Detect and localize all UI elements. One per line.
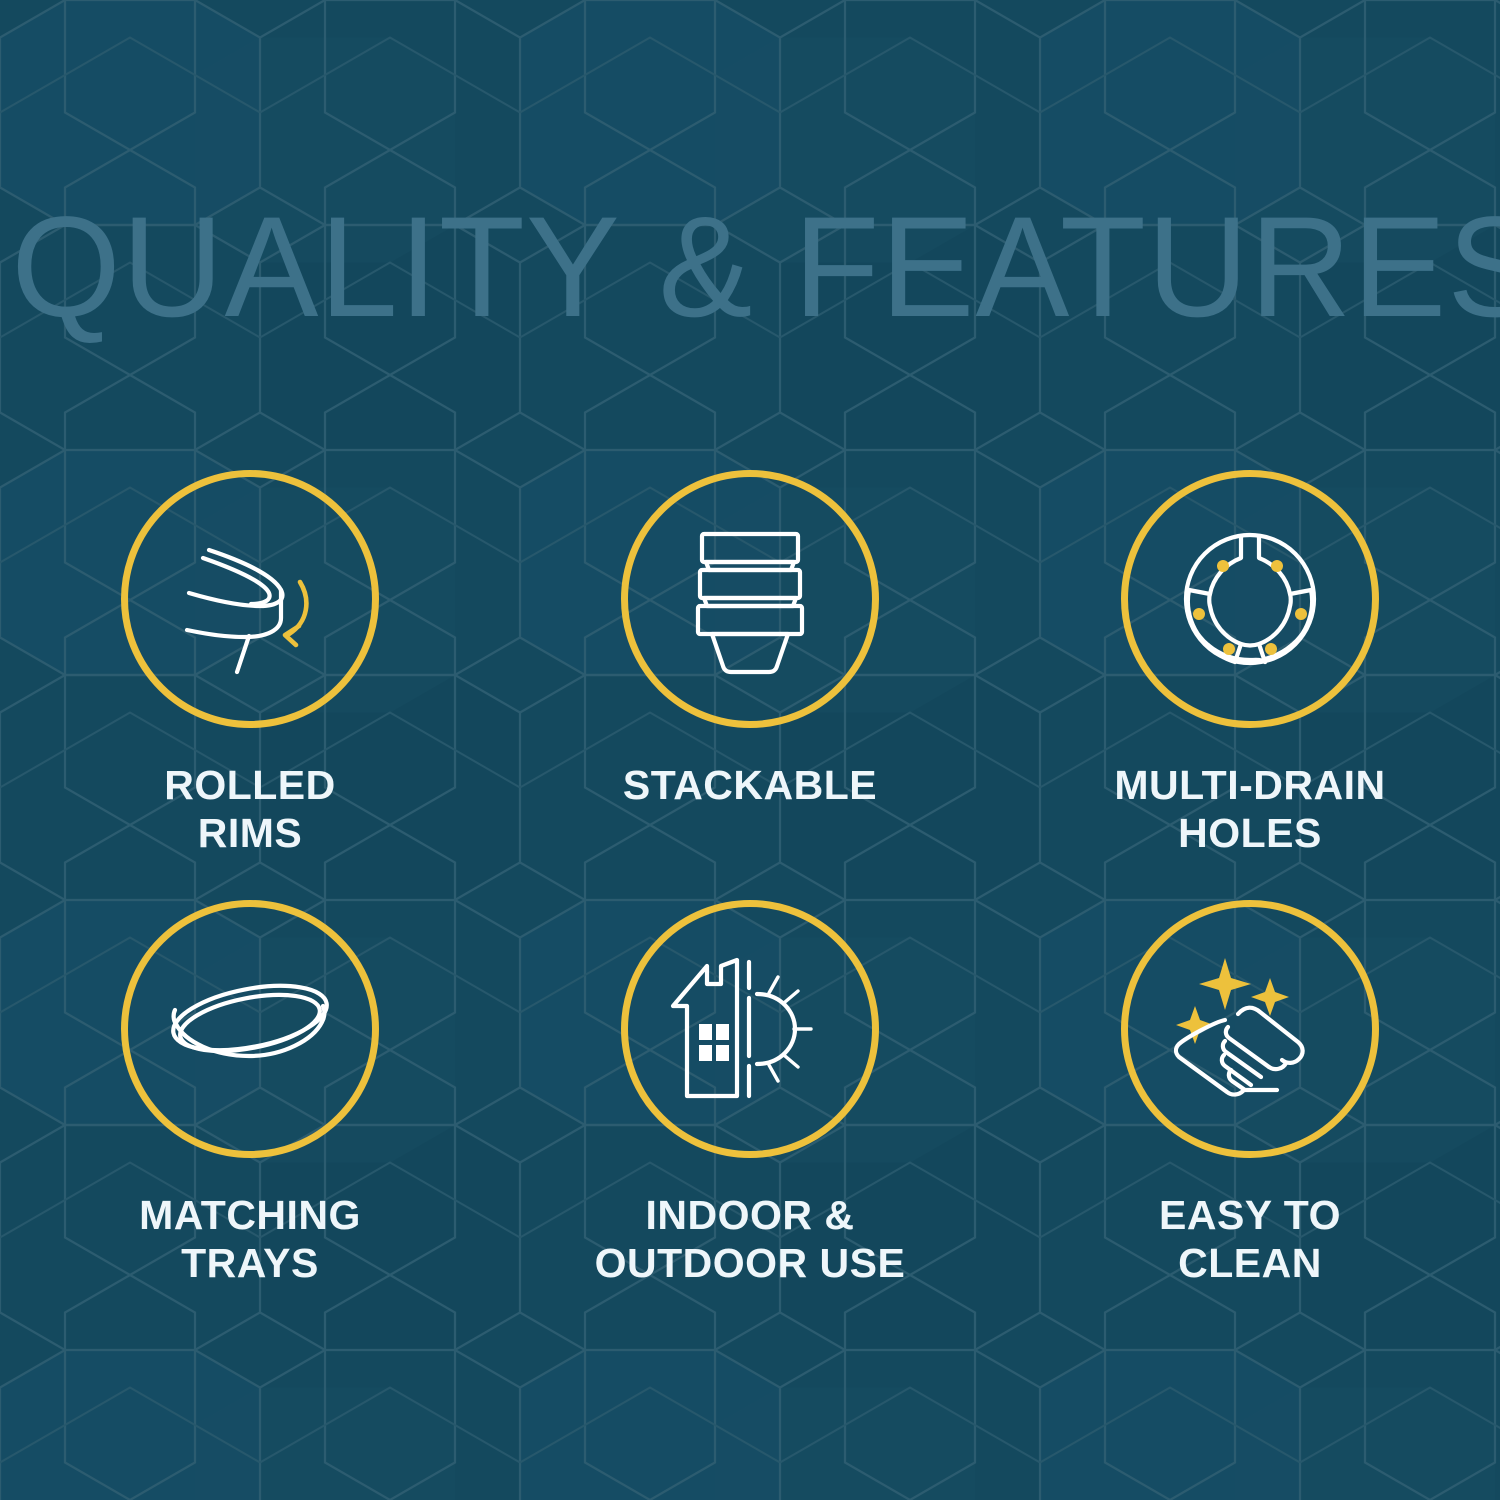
feature-caption: MULTI-DRAIN HOLES: [1114, 762, 1385, 858]
wiping-hand-sparkle-icon: [1165, 944, 1335, 1114]
feature-caption: MATCHING TRAYS: [139, 1192, 361, 1288]
stacked-pots-icon: [665, 514, 835, 684]
feature-badge: [121, 900, 379, 1158]
feature-easy-to-clean[interactable]: EASY TO CLEAN: [1000, 900, 1500, 1330]
feature-indoor-outdoor-use[interactable]: INDOOR & OUTDOOR USE: [500, 900, 1000, 1330]
feature-badge: [1121, 470, 1379, 728]
saucer-tray-icon: [165, 944, 335, 1114]
page-title: QUALITY & FEATURES: [11, 196, 1489, 339]
feature-badge: [621, 900, 879, 1158]
feature-caption: ROLLED RIMS: [164, 762, 336, 858]
feature-rolled-rims[interactable]: ROLLED RIMS: [0, 470, 500, 900]
feature-badge: [121, 470, 379, 728]
feature-badge: [621, 470, 879, 728]
drain-holes-icon: [1165, 514, 1335, 684]
feature-badge: [1121, 900, 1379, 1158]
feature-matching-trays[interactable]: MATCHING TRAYS: [0, 900, 500, 1330]
feature-stackable[interactable]: STACKABLE: [500, 470, 1000, 900]
house-sun-icon: [665, 944, 835, 1114]
feature-caption: EASY TO CLEAN: [1159, 1192, 1341, 1288]
rolled-rim-icon: [165, 514, 335, 684]
feature-caption: STACKABLE: [623, 762, 877, 810]
feature-infographic: QUALITY & FEATURES ROLLED RIMS: [0, 0, 1500, 1500]
feature-grid: ROLLED RIMS STACKABLE: [0, 470, 1500, 1330]
feature-caption: INDOOR & OUTDOOR USE: [595, 1192, 906, 1288]
feature-multi-drain-holes[interactable]: MULTI-DRAIN HOLES: [1000, 470, 1500, 900]
